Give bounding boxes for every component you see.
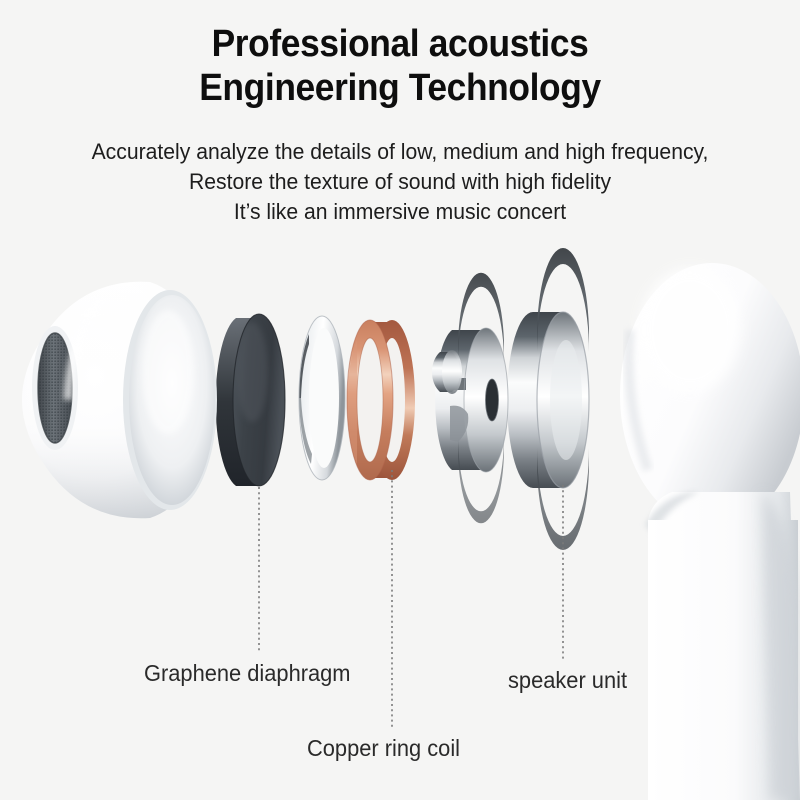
magnet-plate	[432, 273, 508, 524]
exploded-earphone-illustration	[0, 0, 800, 800]
callout-label-graphene-diaphragm: Graphene diaphragm	[144, 660, 351, 687]
speaker-driver-unit	[507, 248, 589, 550]
earbud-body	[620, 263, 800, 800]
callout-label-copper-ring-coil: Copper ring coil	[307, 735, 460, 762]
graphene-diaphragm	[216, 314, 285, 486]
callout-label-speaker-unit: speaker unit	[508, 667, 627, 694]
infographic-canvas: Professional acoustics Engineering Techn…	[0, 0, 800, 800]
chrome-ring	[299, 316, 345, 480]
copper-ring-coil	[347, 320, 415, 480]
ear-tip	[22, 282, 217, 519]
